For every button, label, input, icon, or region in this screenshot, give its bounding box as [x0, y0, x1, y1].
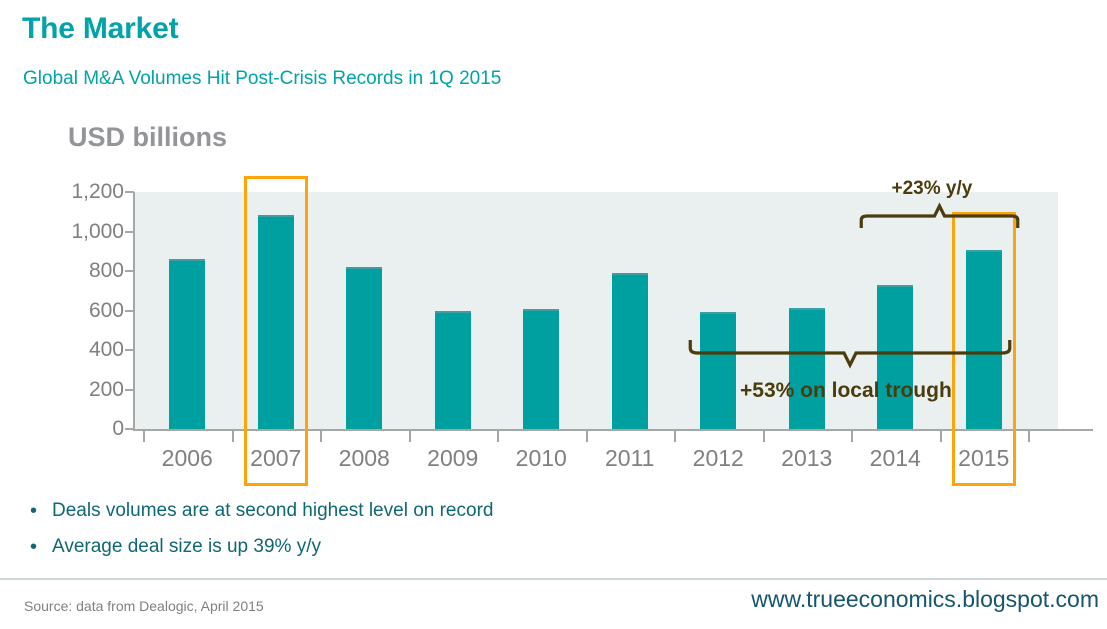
- bullet-text: Average deal size is up 39% y/y: [52, 536, 321, 558]
- footer-divider: [0, 578, 1107, 580]
- bracket-local-trough: [0, 108, 1107, 498]
- page-subtitle: Global M&A Volumes Hit Post-Crisis Recor…: [23, 68, 501, 90]
- bullet-dot-icon: •: [30, 500, 52, 522]
- page-title: The Market: [22, 12, 178, 46]
- chart-container: USD billions 02004006008001,0001,200 200…: [0, 108, 1107, 498]
- annotation-label-local-trough: +53% on local trough: [740, 379, 952, 403]
- bullet-dot-icon: •: [30, 536, 52, 558]
- source-note: Source: data from Dealogic, April 2015: [24, 598, 264, 614]
- bullet-item: •Average deal size is up 39% y/y: [30, 536, 730, 558]
- bullet-text: Deals volumes are at second highest leve…: [52, 500, 493, 522]
- bullet-list: •Deals volumes are at second highest lev…: [30, 500, 730, 572]
- bullet-item: •Deals volumes are at second highest lev…: [30, 500, 730, 522]
- site-url[interactable]: www.trueeconomics.blogspot.com: [751, 586, 1099, 613]
